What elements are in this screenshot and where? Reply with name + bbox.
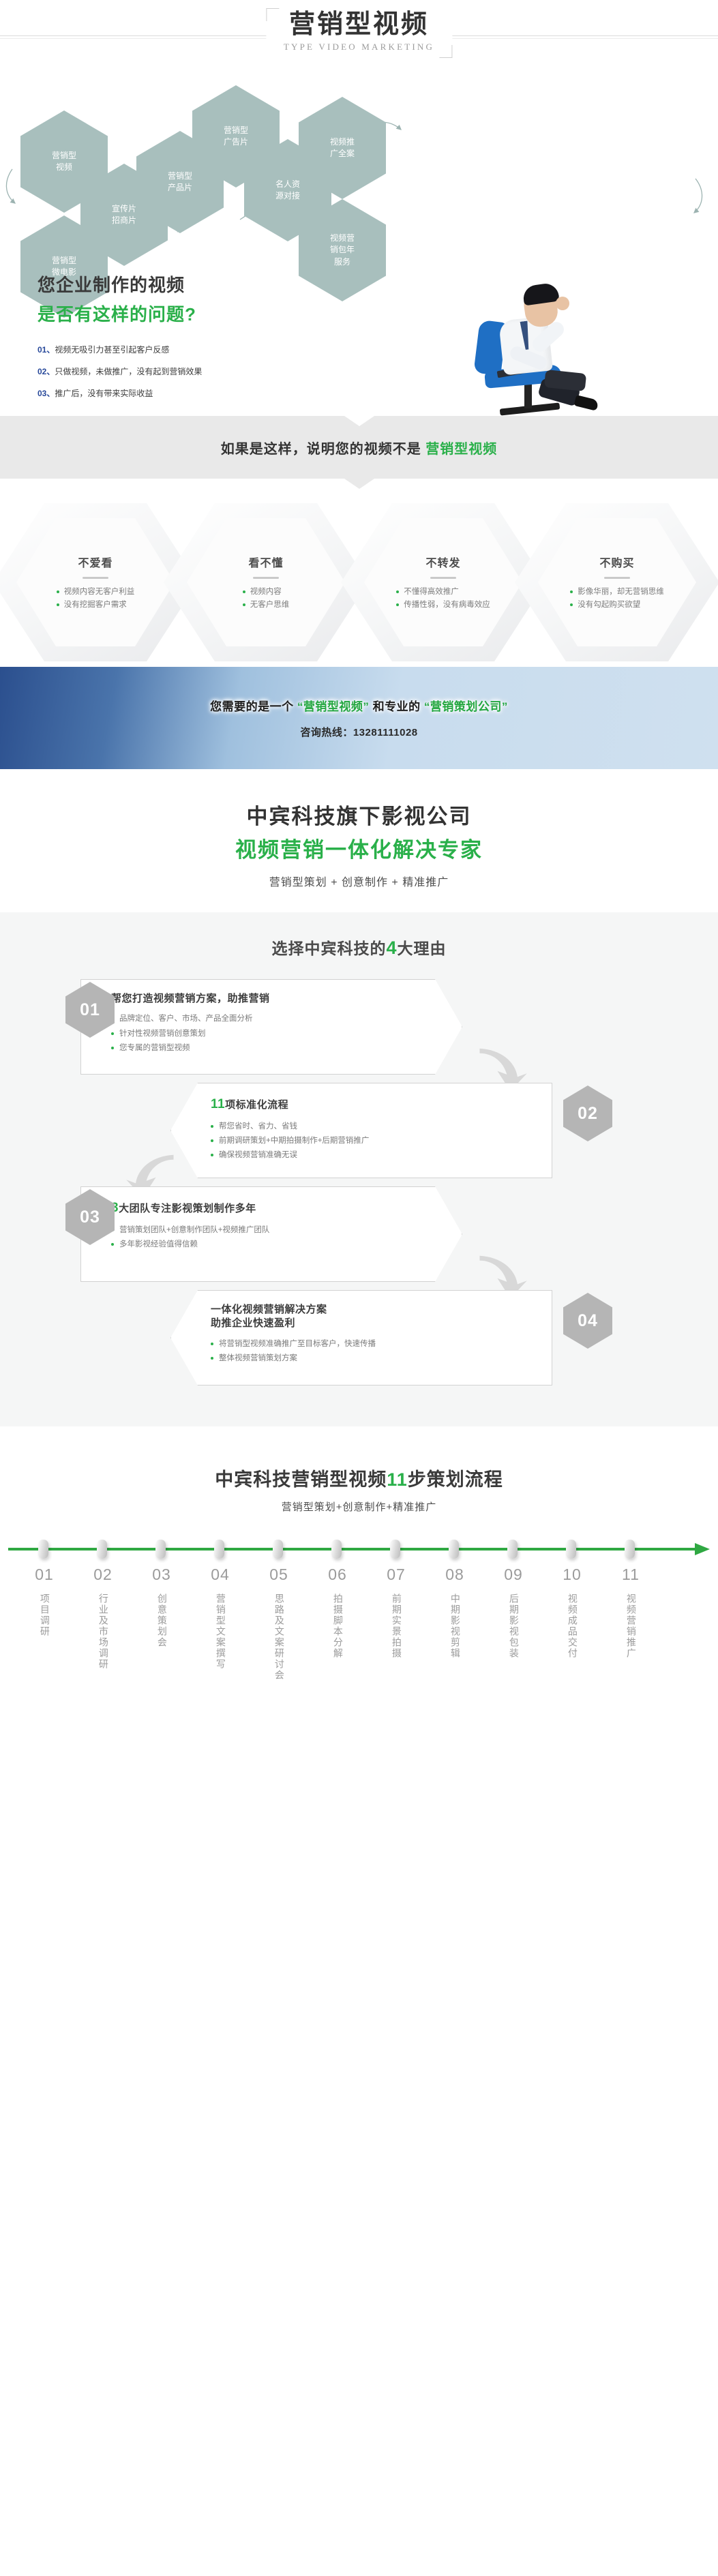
service-hex-label: 名人资 源对接 [275, 179, 300, 203]
problem-item-number: 03、 [38, 389, 55, 398]
reason-card-title-number: 11 [211, 1097, 225, 1111]
reason-card-title-text: 大团队专注影视策划制作多年 [119, 1203, 256, 1214]
problem-item-text: 视频无吸引力甚至引起客户反感 [55, 345, 169, 355]
reasons-section: 选择中宾科技的4大理由 帮您打造视频营销方案，助推营销品牌定位、客户、市场、产品… [0, 912, 718, 1426]
cta-banner: 您需要的是一个 “营销型视频” 和专业的 “营销策划公司” 咨询热线：13281… [0, 667, 718, 769]
cta-line1-a: 您需要的是一个 [210, 700, 297, 713]
flow-section: 中宾科技营销型视频11步策划流程 营销型策划+创意制作+精准推广 01项目调研0… [0, 1426, 718, 1711]
flow-heading-b: 步策划流程 [408, 1469, 503, 1490]
flow-step-label-wrap: 视频成品交付 [543, 1593, 601, 1662]
problem-hex-bullet-list: 影像华丽，却无营销思维没有勾起购买欲望 [570, 586, 664, 612]
timeline-pin-08 [449, 1540, 459, 1559]
reasons-heading: 选择中宾科技的4大理由 [0, 935, 718, 959]
gray-banner-text: 如果是这样，说明您的视频不是 营销型视频 [221, 438, 498, 458]
problem-item-text: 推广后，没有带来实际收益 [55, 389, 153, 398]
flow-heading-number: 11 [387, 1469, 408, 1490]
flow-step-label-wrap: 思路及文案研讨会 [250, 1593, 308, 1684]
reason-card-bullets: 品牌定位、客户、市场、产品全面分析针对性视频营销创意策划您专属的营销型视频 [111, 1012, 425, 1055]
reason-card-title-text: 项标准化流程 [225, 1099, 288, 1111]
intro-line2: 视频营销一体化解决专家 [0, 833, 718, 863]
flow-step-label: 行业及市场调研 [95, 1593, 110, 1670]
timeline-pin-03 [155, 1540, 166, 1559]
gray-banner-highlight: 营销型视频 [425, 442, 497, 457]
flow-step-number: 09 [484, 1566, 543, 1584]
problem-hex-body: 看不懂视频内容无客户思维 [164, 503, 368, 661]
problem-hex-body: 不购买影像华丽，却无营销思维没有勾起购买欲望 [515, 503, 718, 661]
flow-step-02[interactable]: 02行业及市场调研 [74, 1566, 132, 1684]
reason-card-bullet: 品牌定位、客户、市场、产品全面分析 [111, 1012, 425, 1026]
flow-step-label-wrap: 行业及市场调研 [74, 1593, 132, 1673]
flow-step-label-wrap: 创意策划会 [132, 1593, 191, 1651]
gray-banner-plain: 如果是这样，说明您的视频不是 [221, 442, 426, 457]
flow-step-06[interactable]: 06拍摄脚本分解 [308, 1566, 367, 1684]
flow-step-number: 06 [308, 1566, 367, 1584]
problem-list: 01、视频无吸引力甚至引起客户反感02、只做视频，未做推广，没有起到营销效果03… [38, 344, 718, 399]
header-title-box: 营销型视频 TYPE VIDEO MARKETING [266, 7, 452, 59]
flow-step-04[interactable]: 04营销型文案撰写 [191, 1566, 250, 1684]
timeline-pin-04 [214, 1540, 224, 1559]
reason-card-title: 11项标准化流程 [211, 1096, 522, 1113]
problem-hex-divider [83, 577, 108, 579]
service-hex-label: 营销型 产品片 [168, 170, 192, 194]
page-title: 营销型视频 [284, 11, 434, 40]
timeline-pin-09 [507, 1540, 518, 1559]
flow-heading: 中宾科技营销型视频11步策划流程 [0, 1465, 718, 1491]
flow-step-label: 前期实景拍摄 [389, 1593, 404, 1659]
intro-line3: 营销型策划 + 创意制作 + 精准推广 [0, 873, 718, 889]
gray-callout-banner: 如果是这样，说明您的视频不是 营销型视频 [0, 416, 718, 479]
problem-hex-row: 不爱看视频内容无客户利益没有挖掘客户需求看不懂视频内容无客户思维不转发不懂得高效… [0, 503, 718, 667]
timeline-pin-06 [331, 1540, 342, 1559]
flow-step-number: 08 [425, 1566, 484, 1584]
reason-card-2[interactable]: 11项标准化流程帮您省时、省力、省钱前期调研策划+中期拍摄制作+后期营销推广确保… [170, 1083, 552, 1178]
flow-step-03[interactable]: 03创意策划会 [132, 1566, 191, 1684]
flow-step-label: 中期影视剪辑 [447, 1593, 462, 1659]
reason-row-1: 帮您打造视频营销方案，助推营销品牌定位、客户、市场、产品全面分析针对性视频营销创… [0, 979, 718, 1083]
cta-line1-d: “营销策划公司” [424, 700, 508, 713]
flow-step-label: 视频营销推广 [623, 1593, 638, 1659]
reason-card-bullet: 前期调研策划+中期拍摄制作+后期营销推广 [211, 1134, 522, 1148]
flow-step-label-wrap: 中期影视剪辑 [425, 1593, 484, 1662]
problem-hex-bullet: 没有勾起购买欲望 [570, 599, 664, 612]
problem-hex-divider [253, 577, 279, 579]
reason-row-4: 一体化视频营销解决方案 助推企业快速盈利将营销型视频准确推广至目标客户，快速传播… [0, 1290, 718, 1394]
service-hex-label: 营销型 视频 [52, 150, 76, 174]
flow-step-label: 营销型文案撰写 [213, 1593, 228, 1670]
problem-hex-bullet: 不懂得高效推广 [396, 586, 490, 599]
reason-card-bullet: 确保视频营销准确无误 [211, 1148, 522, 1163]
flow-step-label: 拍摄脚本分解 [330, 1593, 345, 1659]
reason-row-3: 3大团队专注影视策划制作多年营销策划团队+创意制作团队+视频推广团队多年影视经验… [0, 1186, 718, 1290]
flow-subtitle: 营销型策划+创意制作+精准推广 [0, 1499, 718, 1514]
reason-card-list: 帮您打造视频营销方案，助推营销品牌定位、客户、市场、产品全面分析针对性视频营销创… [0, 979, 718, 1394]
flow-step-label-wrap: 前期实景拍摄 [367, 1593, 425, 1662]
flow-step-number: 11 [601, 1566, 660, 1584]
flow-step-label-wrap: 视频营销推广 [601, 1593, 660, 1662]
cta-hotline: 咨询热线：13281111028 [300, 725, 417, 739]
reason-card-bullet: 您专属的营销型视频 [111, 1041, 425, 1055]
flow-step-number: 07 [367, 1566, 425, 1584]
flow-step-number: 05 [250, 1566, 308, 1584]
problem-item-number: 01、 [38, 345, 55, 355]
reason-card-title-text: 一体化视频营销解决方案 助推企业快速盈利 [211, 1304, 327, 1329]
flow-step-label: 后期影视包装 [506, 1593, 521, 1659]
hand [556, 297, 569, 310]
reason-card-bullet: 将营销型视频准确推广至目标客户，快速传播 [211, 1337, 522, 1351]
problem-hex-bullet: 传播性弱，没有病毒效应 [396, 599, 490, 612]
problem-hex-title: 不转发 [425, 554, 460, 570]
landing-page: 营销型视频 TYPE VIDEO MARKETING 营销型 视频宣传片 招商片… [0, 0, 718, 1711]
reason-card-bullet: 营销策划团队+创意制作团队+视频推广团队 [111, 1223, 425, 1238]
service-hex-label: 视频推 广全案 [330, 136, 355, 160]
service-hex-grid: 营销型 视频宣传片 招商片营销型 产品片营销型 广告片名人资 源对接视频推 广全… [0, 95, 718, 259]
problem-hex-card-2[interactable]: 看不懂视频内容无客户思维 [164, 503, 368, 661]
problem-hex-bullet-list: 视频内容无客户思维 [243, 586, 290, 612]
flow-step-label: 项目调研 [37, 1593, 52, 1637]
service-hex-label: 宣传片 招商片 [112, 203, 136, 227]
flow-step-number: 02 [74, 1566, 132, 1584]
reason-card-bullets: 将营销型视频准确推广至目标客户，快速传播整体视频营销策划方案 [211, 1337, 522, 1366]
problem-section: 您企业制作的视频 是否有这样的问题? 01、视频无吸引力甚至引起客户反感02、只… [0, 259, 718, 416]
reason-row-2: 11项标准化流程帮您省时、省力、省钱前期调研策划+中期拍摄制作+后期营销推广确保… [0, 1083, 718, 1186]
problem-hex-bullet: 无客户思维 [243, 599, 290, 612]
cta-line1-c: 和专业的 [369, 700, 423, 713]
problem-hex-title: 看不懂 [248, 554, 283, 570]
flow-step-label-wrap: 项目调研 [15, 1593, 74, 1641]
reason-card-bullets: 营销策划团队+创意制作团队+视频推广团队多年影视经验值得信赖 [111, 1223, 425, 1253]
flow-step-number: 03 [132, 1566, 191, 1584]
flow-step-label-wrap: 营销型文案撰写 [191, 1593, 250, 1673]
flow-step-label-wrap: 后期影视包装 [484, 1593, 543, 1662]
page-header: 营销型视频 TYPE VIDEO MARKETING [0, 0, 718, 95]
flow-step-07[interactable]: 07前期实景拍摄 [367, 1566, 425, 1684]
reason-card-3[interactable]: 3大团队专注影视策划制作多年营销策划团队+创意制作团队+视频推广团队多年影视经验… [80, 1186, 462, 1282]
problem-item-3: 03、推广后，没有带来实际收益 [38, 387, 718, 399]
timeline-arrow-icon [695, 1543, 710, 1555]
flow-step-05[interactable]: 05思路及文案研讨会 [250, 1566, 308, 1684]
cta-line1-b: “营销型视频” [297, 700, 370, 713]
reasons-heading-a: 选择中宾科技的 [271, 940, 386, 957]
reason-card-bullet: 针对性视频营销创意策划 [111, 1027, 425, 1041]
timeline-pin-11 [625, 1540, 635, 1559]
shoe [574, 395, 599, 411]
timeline-pin-01 [38, 1540, 48, 1559]
reason-card-bullet: 整体视频营销策划方案 [211, 1351, 522, 1366]
reason-card-bullet: 多年影视经验值得信赖 [111, 1238, 425, 1252]
problem-hex-bullet-list: 不懂得高效推广传播性弱，没有病毒效应 [396, 586, 490, 612]
flow-step-11[interactable]: 11视频营销推广 [601, 1566, 660, 1684]
problem-hex-bullet: 视频内容 [243, 586, 290, 599]
problem-hex-bullet: 视频内容无客户利益 [57, 586, 135, 599]
flow-step-10[interactable]: 10视频成品交付 [543, 1566, 601, 1684]
flow-timeline-bar [0, 1537, 718, 1560]
timeline-pin-07 [390, 1540, 400, 1559]
reason-card-bullet: 帮您省时、省力、省钱 [211, 1120, 522, 1134]
flow-step-label: 视频成品交付 [565, 1593, 580, 1659]
cta-line1: 您需要的是一个 “营销型视频” 和专业的 “营销策划公司” [210, 697, 508, 714]
reason-card-title: 帮您打造视频营销方案，助推营销 [111, 992, 425, 1006]
problem-hex-title: 不购买 [599, 554, 634, 570]
chair-stem [524, 381, 532, 408]
flow-step-number: 01 [15, 1566, 74, 1584]
problem-item-number: 02、 [38, 367, 55, 376]
company-intro: 中宾科技旗下影视公司 视频营销一体化解决专家 营销型策划 + 创意制作 + 精准… [0, 769, 718, 912]
flow-step-09[interactable]: 09后期影视包装 [484, 1566, 543, 1684]
problem-hex-bullet: 没有挖掘客户需求 [57, 599, 135, 612]
timeline-bar [8, 1548, 695, 1551]
page-subtitle-en: TYPE VIDEO MARKETING [284, 42, 434, 53]
problem-hex-bullet: 影像华丽，却无营销思维 [570, 586, 664, 599]
problem-hex-card-4[interactable]: 不购买影像华丽，却无营销思维没有勾起购买欲望 [515, 503, 718, 661]
timeline-pin-10 [566, 1540, 576, 1559]
timeline-pin-05 [273, 1540, 283, 1559]
reason-card-bullets: 帮您省时、省力、省钱前期调研策划+中期拍摄制作+后期营销推广确保视频营销准确无误 [211, 1120, 522, 1163]
service-hex-label: 营销型 广告片 [224, 125, 248, 149]
problem-hex-bullet-list: 视频内容无客户利益没有挖掘客户需求 [57, 586, 135, 612]
problem-heading-line2: 是否有这样的问题? [38, 301, 718, 326]
problem-hex-divider [604, 577, 630, 579]
businessman-illustration [459, 266, 616, 413]
flow-step-label: 创意策划会 [154, 1593, 169, 1648]
reason-card-4[interactable]: 一体化视频营销解决方案 助推企业快速盈利将营销型视频准确推广至目标客户，快速传播… [170, 1290, 552, 1386]
problem-item-2: 02、只做视频，未做推广，没有起到营销效果 [38, 365, 718, 377]
reason-badge-04: 04 [563, 1293, 612, 1349]
flow-step-label: 思路及文案研讨会 [271, 1593, 286, 1681]
reason-card-title: 一体化视频营销解决方案 助推企业快速盈利 [211, 1303, 522, 1331]
problem-hex-divider [430, 577, 456, 579]
problem-item-1: 01、视频无吸引力甚至引起客户反感 [38, 344, 718, 355]
flow-heading-a: 中宾科技营销型视频 [215, 1469, 387, 1490]
reasons-heading-b: 大理由 [398, 940, 447, 957]
problem-heading-line1: 您企业制作的视频 [38, 271, 718, 297]
reason-badge-02: 02 [563, 1085, 612, 1141]
flow-step-label-wrap: 拍摄脚本分解 [308, 1593, 367, 1662]
problem-hex-title: 不爱看 [78, 554, 113, 570]
reasons-heading-number: 4 [386, 938, 397, 958]
problem-item-text: 只做视频，未做推广，没有起到营销效果 [55, 367, 202, 376]
reason-card-1[interactable]: 帮您打造视频营销方案，助推营销品牌定位、客户、市场、产品全面分析针对性视频营销创… [80, 979, 462, 1075]
flow-step-01[interactable]: 01项目调研 [15, 1566, 74, 1684]
reason-card-title-text: 帮您打造视频营销方案，助推营销 [111, 993, 270, 1004]
flow-step-list: 01项目调研02行业及市场调研03创意策划会04营销型文案撰写05思路及文案研讨… [0, 1560, 718, 1684]
reason-card-title: 3大团队专注影视策划制作多年 [111, 1199, 425, 1217]
flow-step-number: 04 [191, 1566, 250, 1584]
flow-step-08[interactable]: 08中期影视剪辑 [425, 1566, 484, 1684]
flow-step-number: 10 [543, 1566, 601, 1584]
intro-line1: 中宾科技旗下影视公司 [0, 799, 718, 830]
timeline-pin-02 [97, 1540, 107, 1559]
